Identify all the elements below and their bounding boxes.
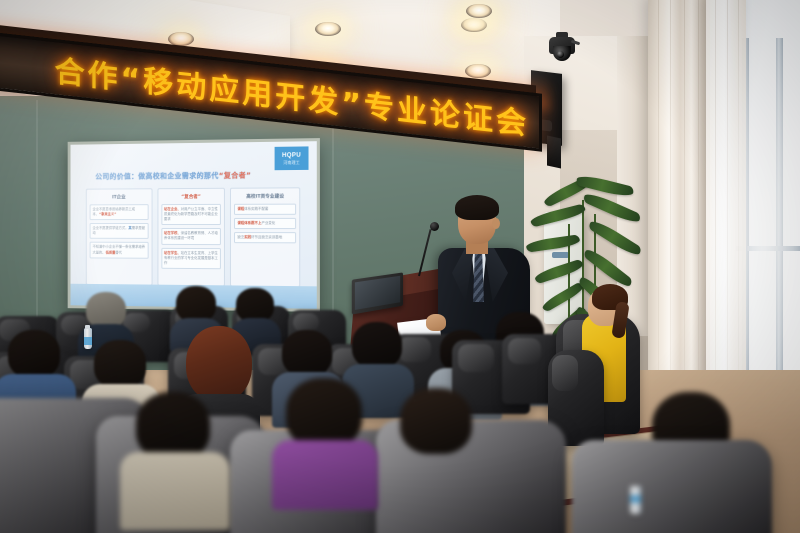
- person-hair: [352, 322, 402, 368]
- ceiling-downlight: [466, 4, 492, 18]
- water-bottle: [84, 328, 92, 349]
- slide-logo-line2: 河南理工: [283, 160, 299, 164]
- water-bottle: [630, 486, 641, 514]
- ceiling-downlight: [465, 64, 491, 78]
- slide-cell: 站在学生、站在立本生发育、上学生有教行业的学习专业化发展是基本工作: [161, 247, 221, 269]
- slide-cell: 不知道中小企业不懂一条化需求培养大量的、低质量替代: [90, 242, 149, 258]
- slide-logo-line1: HQPU: [282, 152, 301, 158]
- cell-highlight: “拿来主义”: [99, 212, 116, 216]
- person-hair: [176, 286, 216, 322]
- person-hair-grey: [86, 292, 126, 328]
- person-hair: [286, 378, 362, 448]
- camera-lens: [557, 51, 564, 58]
- cell-post: 环节且缺乏实训基地: [251, 235, 282, 239]
- person-hair: [94, 340, 146, 388]
- cell-pre: 站在学校、: [164, 231, 181, 235]
- bottle-cap: [85, 325, 90, 329]
- ceiling-downlight: [315, 22, 341, 36]
- cell-pre: 不知道中小企业不懂一条化: [92, 245, 131, 249]
- chair-foreground: [572, 440, 772, 533]
- presenter-hair: [455, 195, 499, 220]
- cell-pre: 站在学生、: [164, 250, 181, 254]
- person-hair: [282, 330, 332, 376]
- cell-mid: 对用户公立平: [181, 207, 201, 211]
- slide-column-header: IT企业: [90, 192, 149, 201]
- cell-highlight: 实践: [244, 235, 251, 239]
- person-torso: [120, 452, 230, 530]
- person-hair-auburn: [186, 326, 252, 402]
- slide-column: 高校IT类专业建设 课程体系实践不配套 课程体系跟不上产业变化 缺乏实践环节且缺…: [230, 187, 300, 287]
- speaker-bracket: [547, 136, 561, 169]
- cell-pre: 站在企业、: [164, 207, 181, 211]
- person-hair: [8, 330, 60, 378]
- conference-room-photo: 合作“移动应用开发”专业论证会 HQPU 河南理工 公司的价值：做高校和企业需求…: [0, 0, 800, 533]
- slide-cell: 站在企业、对用户公立平面、中立性质最终化为新学思路及时不可能企业要求: [161, 204, 221, 225]
- person-hair: [136, 392, 210, 460]
- cell-mid: 深谙名教教育: [181, 231, 201, 235]
- slide-cell: 课程体系跟不上产业变化: [234, 218, 296, 229]
- slide-cell: 企业不愿提供学徒方式，其需求是被动: [90, 223, 149, 239]
- presenter-hand: [426, 314, 446, 331]
- slide-cell: 企业不愿意承担培养新员工成本，“拿来主义”: [90, 204, 149, 220]
- cell-highlight: 低质量: [106, 250, 116, 254]
- laptop-screen: [355, 276, 400, 310]
- person-hair: [400, 388, 472, 454]
- person-top-purple: [272, 440, 378, 510]
- slide-columns: IT企业 企业不愿意承担培养新员工成本，“拿来主义” 企业不愿提供学徒方式，其需…: [86, 187, 300, 287]
- slide-cell: 缺乏实践环节且缺乏实训基地: [234, 232, 296, 243]
- presenter-ear: [492, 218, 500, 229]
- slide-title-prefix: 公司的价值：: [95, 172, 138, 180]
- cell-post: 体系实践不配套: [244, 207, 268, 211]
- slide-column: “复合者” 站在企业、对用户公立平面、中立性质最终化为新学思路及时不可能企业要求…: [157, 188, 225, 287]
- cell-pre: 企业不愿提供学徒方式，: [92, 226, 128, 230]
- slide-logo: HQPU 河南理工: [275, 146, 309, 170]
- slide-title-highlight: “复合者”: [219, 171, 251, 179]
- person-hair: [236, 288, 274, 322]
- cell-post: 产业变化: [261, 221, 275, 225]
- projection-screen: HQPU 河南理工 公司的价值：做高校和企业需求的那代“复合者” IT企业 企业…: [71, 141, 317, 309]
- slide-column-header: 高校IT类专业建设: [234, 191, 296, 200]
- cell-pre: 企业不愿意承担培养新员: [92, 207, 128, 211]
- slide-cell: 课程体系实践不配套: [234, 204, 296, 215]
- ptz-dome-camera-icon: [549, 32, 575, 62]
- slide-column: IT企业 企业不愿意承担培养新员工成本，“拿来主义” 企业不愿提供学徒方式，其需…: [86, 188, 152, 285]
- slide-column-header: “复合者”: [161, 192, 221, 201]
- cell-mid: 站在立本生发: [181, 251, 201, 255]
- cell-post: 替代: [115, 250, 122, 254]
- ceiling-downlight: [461, 18, 487, 32]
- slide-title: 公司的价值：做高校和企业需求的那代“复合者”: [95, 170, 299, 182]
- slide-cell: 站在学校、深谙名教教育情、人才培养体系的建设一环境: [161, 228, 221, 244]
- cell-highlight: 课程体系跟不上: [237, 221, 261, 225]
- slide-title-body: 做高校和企业需求的那代: [138, 172, 218, 181]
